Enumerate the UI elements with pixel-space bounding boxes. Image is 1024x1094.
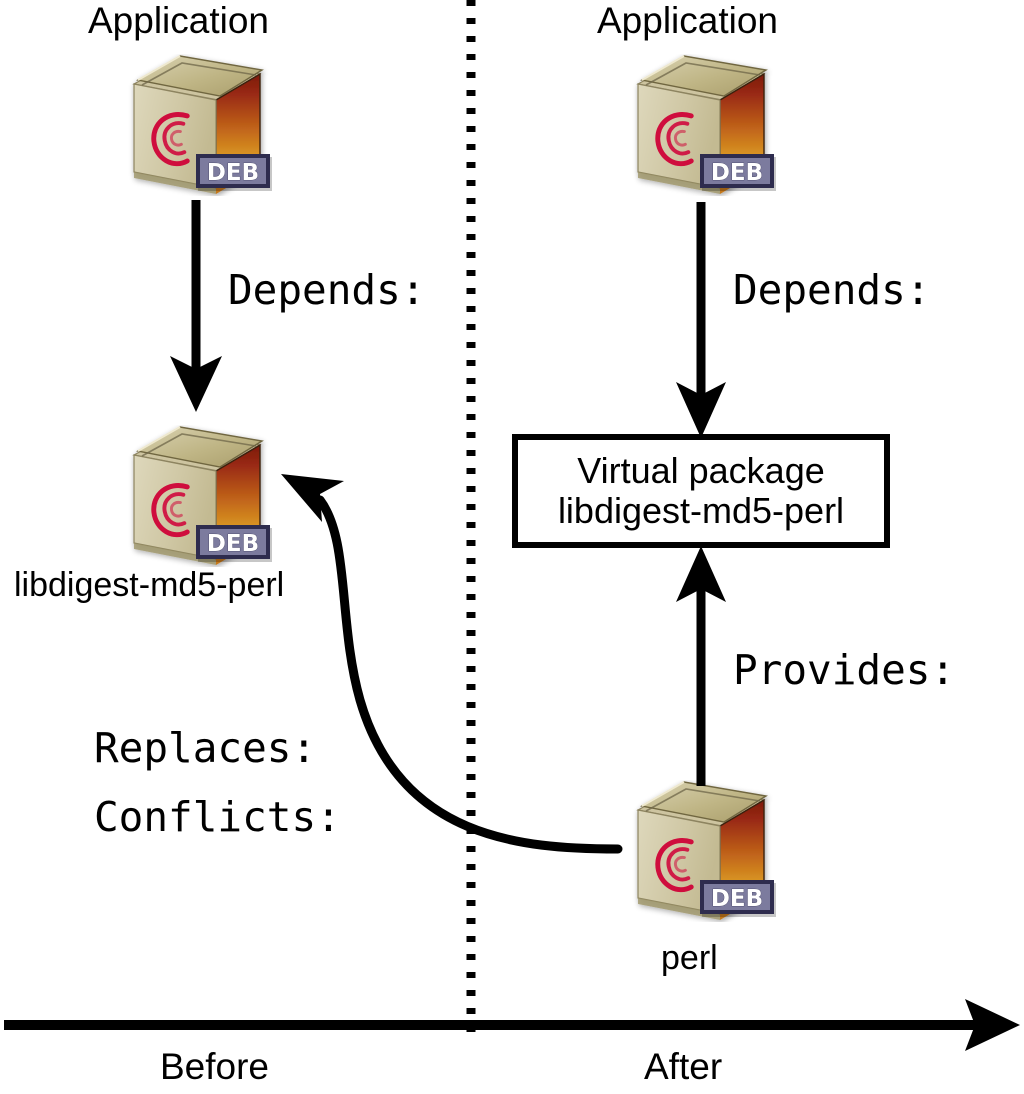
after-column-heading: Application [597, 2, 778, 39]
after-depends-arrow [676, 202, 726, 438]
libdigest-md5-perl-label: libdigest-md5-perl [14, 568, 284, 602]
virtual-package-line1: Virtual package [577, 451, 825, 491]
before-depends-label: Depends: [228, 270, 425, 311]
timeline-axis [4, 999, 1020, 1051]
axis-label-after: After [644, 1048, 722, 1085]
before-application-package-icon [120, 54, 272, 196]
provides-label: Provides: [733, 650, 955, 691]
conflicts-label: Conflicts: [94, 797, 341, 838]
diagram-canvas: DEB Application Application libdigest-md… [0, 0, 1024, 1094]
perl-label: perl [661, 941, 718, 975]
libdigest-md5-perl-package-icon [120, 425, 272, 567]
replaces-label: Replaces: [94, 728, 316, 769]
before-depends-arrow [170, 200, 222, 412]
virtual-package-line2: libdigest-md5-perl [558, 491, 844, 531]
after-application-package-icon [624, 54, 776, 196]
provides-arrow [676, 546, 726, 786]
after-depends-label: Depends: [733, 270, 930, 311]
virtual-package-box: Virtual package libdigest-md5-perl [512, 434, 890, 548]
axis-label-before: Before [160, 1048, 269, 1085]
before-column-heading: Application [88, 2, 269, 39]
perl-package-icon [624, 780, 776, 922]
